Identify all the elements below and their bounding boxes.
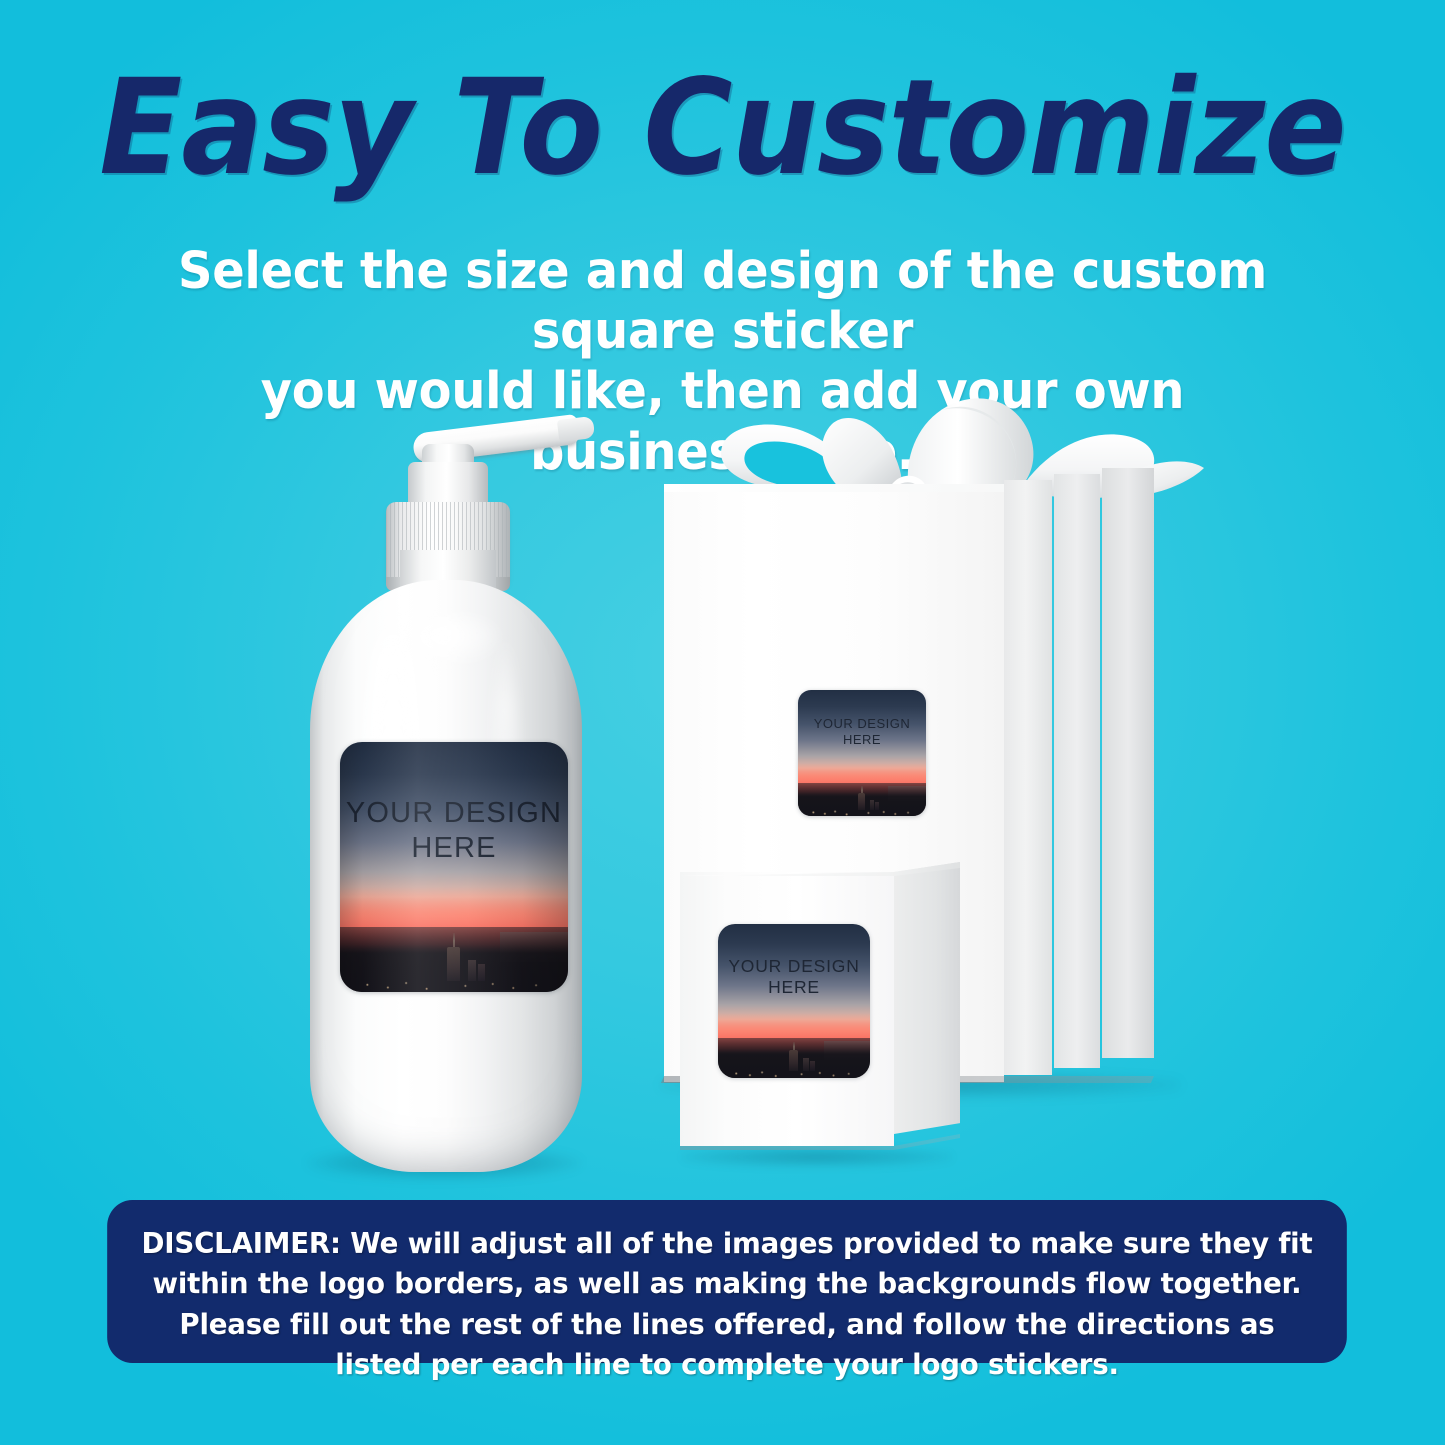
- bottle-sticker-label: YOUR DESIGN HERE: [340, 742, 568, 992]
- small-box-side-panel: [894, 862, 960, 1134]
- gift-box-side-panel-3: [1102, 468, 1154, 1058]
- bottle-sticker-line-2: HERE: [411, 832, 496, 864]
- bottle-sticker-line-1: YOUR DESIGN: [346, 797, 562, 829]
- city-skyline: [340, 912, 568, 992]
- bottle-shoulder-highlight: [400, 614, 504, 668]
- small-box-sticker-text: YOUR DESIGN HERE: [718, 956, 870, 999]
- city-lights: [798, 808, 926, 816]
- pump-bottle: YOUR DESIGN HERE: [296, 432, 596, 1172]
- city-skyline: [718, 1029, 870, 1078]
- bottle-sticker-text: YOUR DESIGN HERE: [340, 796, 568, 867]
- gift-box-side-panel-1: [1004, 480, 1052, 1075]
- page-title: Easy To Customize: [58, 62, 1387, 194]
- gift-box-sticker-label: YOUR DESIGN HERE: [798, 690, 926, 816]
- disclaimer-heading: DISCLAIMER:: [142, 1227, 341, 1260]
- small-box-sticker-line-2: HERE: [768, 977, 820, 997]
- disclaimer-box: DISCLAIMER: We will adjust all of the im…: [107, 1200, 1347, 1363]
- subtitle-line-1: Select the size and design of the custom…: [147, 242, 1299, 362]
- city-lights: [718, 1068, 870, 1078]
- gift-box-sticker-text: YOUR DESIGN HERE: [798, 716, 926, 748]
- gift-box-sticker-line-1: YOUR DESIGN: [814, 716, 911, 731]
- city-lights: [340, 976, 568, 992]
- small-box-drop-shadow: [682, 1147, 952, 1167]
- gift-box-sticker-line-2: HERE: [843, 732, 881, 747]
- gift-box-side-panel-2: [1054, 474, 1100, 1068]
- small-window-box: YOUR DESIGN HERE: [672, 862, 972, 1162]
- city-skyline: [798, 776, 926, 816]
- promo-graphic: Easy To Customize Select the size and de…: [0, 0, 1445, 1445]
- small-box-sticker-label: YOUR DESIGN HERE: [718, 924, 870, 1078]
- gift-box-top-edge: [664, 484, 1004, 492]
- small-box-sticker-line-1: YOUR DESIGN: [728, 956, 859, 976]
- pump-spout-tip: [557, 416, 595, 442]
